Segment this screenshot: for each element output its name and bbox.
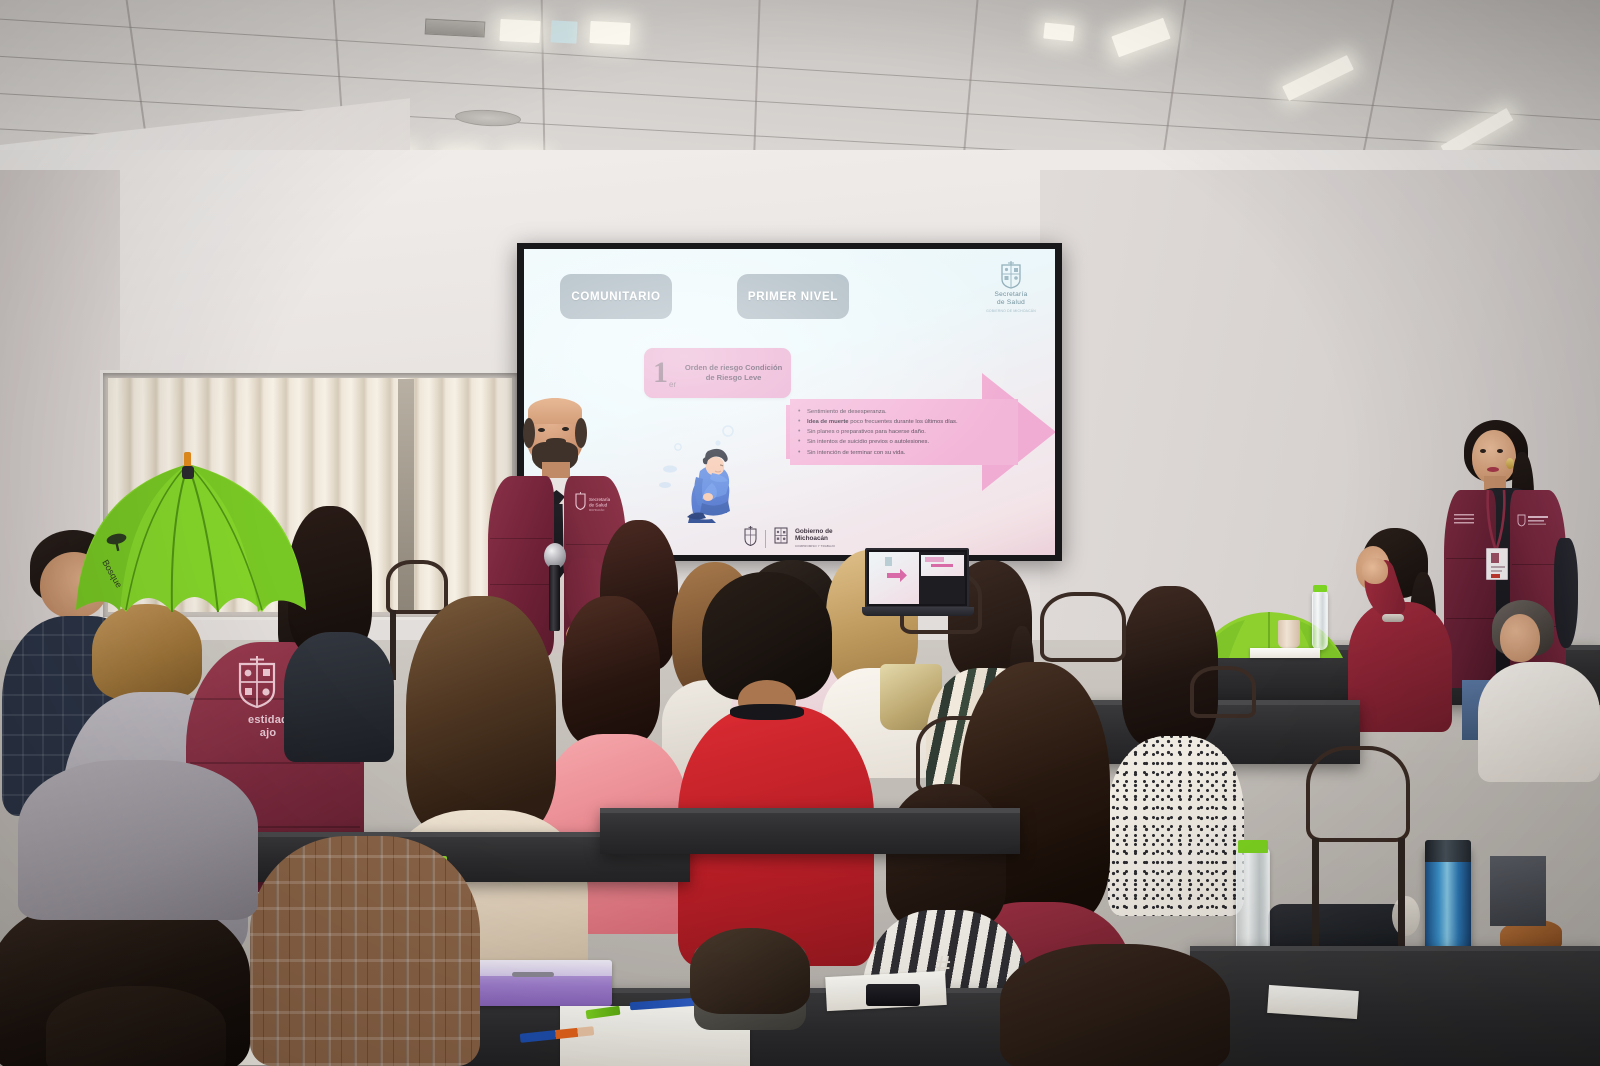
arm bbox=[1554, 538, 1578, 648]
air-vent-icon bbox=[425, 18, 486, 37]
bottle-cap bbox=[1313, 585, 1327, 592]
risk-number: 1 bbox=[653, 360, 668, 386]
table bbox=[600, 808, 1020, 854]
water-bottle-icon bbox=[1312, 590, 1328, 650]
hair bbox=[575, 418, 587, 448]
hair bbox=[690, 928, 810, 1014]
thermos-lid bbox=[1425, 840, 1471, 862]
list-item: Idea de muerte poco frecuentes durante l… bbox=[798, 417, 1012, 427]
scalp bbox=[528, 398, 582, 424]
secretaria-de-salud-logo: Secretaría de Salud GOBIERNO DE MICHOACÁ… bbox=[981, 261, 1041, 313]
logo-line-1: Secretaría bbox=[981, 291, 1041, 299]
hair bbox=[46, 986, 226, 1066]
seated-sad-person-illustration bbox=[656, 417, 752, 525]
list-item: Sentimiento de desesperanza. bbox=[798, 407, 1012, 417]
smartphone-icon[interactable] bbox=[866, 984, 920, 1006]
risk-level-pill: 1 er Orden de riesgo Condición de Riesgo… bbox=[644, 348, 791, 398]
plastic-bag bbox=[1392, 896, 1420, 936]
slide-chip-comunitario: COMUNITARIO bbox=[560, 274, 672, 319]
trouser-leg bbox=[1490, 856, 1546, 926]
ceiling-light bbox=[550, 20, 577, 43]
footer-line-3: COMPROMISO Y TRABAJO bbox=[795, 544, 835, 548]
slide-chip-primer-nivel: PRIMER NIVEL bbox=[737, 274, 849, 319]
open-umbrella-icon[interactable]: Bosque bbox=[72, 450, 310, 630]
risk-title: Orden de riesgo Condición de Riesgo Leve bbox=[682, 363, 791, 384]
secretaria-de-salud-badge-icon: Secretaría de Salud MICHOACÁN bbox=[574, 492, 610, 519]
hand bbox=[1362, 558, 1388, 584]
earring-icon bbox=[1506, 458, 1514, 469]
michoacan-coat-of-arms-icon bbox=[236, 656, 278, 713]
secretaria-de-salud-badge-icon bbox=[1516, 514, 1550, 527]
svg-text:MICHOACÁN: MICHOACÁN bbox=[589, 509, 604, 512]
vest-emblem bbox=[1454, 514, 1474, 524]
ceiling-light bbox=[499, 19, 540, 43]
footer-line-2: Michoacán bbox=[795, 536, 835, 543]
hair bbox=[523, 418, 535, 448]
presentation-room-photo: COMUNITARIO PRIMER NIVEL bbox=[0, 0, 1600, 1066]
ceiling-light bbox=[1282, 55, 1354, 101]
white-shirt bbox=[1478, 662, 1600, 782]
coat-of-arms-crest-icon bbox=[1000, 261, 1022, 289]
head bbox=[1500, 614, 1540, 662]
coat-of-arms-crest-icon bbox=[744, 526, 757, 551]
mustache bbox=[546, 438, 566, 446]
svg-text:Secretaría: Secretaría bbox=[589, 497, 610, 502]
id-badge-icon bbox=[1486, 548, 1508, 580]
eye bbox=[562, 427, 569, 431]
svg-text:de Salud: de Salud bbox=[589, 503, 608, 508]
ceiling-light bbox=[589, 21, 630, 45]
hair bbox=[886, 784, 1006, 930]
hair bbox=[1000, 944, 1230, 1066]
dark-jacket bbox=[284, 632, 394, 762]
michoacan-seal-icon bbox=[774, 526, 787, 551]
paper-cup-icon bbox=[1278, 620, 1300, 648]
divider bbox=[765, 530, 766, 548]
list-item: Sin planes o preparativos para hacerse d… bbox=[798, 427, 1012, 437]
patterned-top bbox=[1108, 736, 1244, 916]
grey-sweater bbox=[18, 760, 258, 920]
logo-subline: GOBIERNO DE MICHOACÁN bbox=[981, 309, 1041, 313]
lips bbox=[1487, 467, 1499, 472]
air-diffuser-icon bbox=[455, 108, 522, 127]
logo-line-2: de Salud bbox=[981, 299, 1041, 307]
plaid-coat bbox=[250, 836, 480, 1066]
chip-label: COMUNITARIO bbox=[571, 291, 660, 303]
wristwatch-icon bbox=[1382, 614, 1404, 622]
hair bbox=[562, 596, 660, 746]
hair bbox=[406, 596, 556, 836]
risk-ordinal: er bbox=[669, 380, 676, 389]
shirt-collar bbox=[730, 704, 804, 720]
chip-label: PRIMER NIVEL bbox=[748, 291, 838, 303]
ceiling-light bbox=[1111, 18, 1170, 57]
list-item: Sin intención de terminar con su vida. bbox=[798, 448, 1012, 458]
hair bbox=[1122, 586, 1218, 746]
notebook bbox=[1250, 648, 1320, 658]
slide-bullet-list: Sentimiento de desesperanza. Idea de mue… bbox=[798, 407, 1012, 458]
eye bbox=[1480, 449, 1486, 453]
lanyard bbox=[1484, 490, 1508, 550]
eye bbox=[538, 428, 545, 432]
list-item: Sin intentos de suicidio previos o autol… bbox=[798, 437, 1012, 447]
gobierno-michoacan-wordmark: Gobierno de Michoacán COMPROMISO Y TRABA… bbox=[795, 529, 835, 547]
ceiling-light bbox=[1043, 22, 1075, 41]
pencil-case-icon[interactable] bbox=[466, 960, 612, 1006]
table bbox=[1190, 946, 1600, 1066]
eye bbox=[1497, 449, 1503, 453]
handheld-microphone-icon bbox=[542, 543, 568, 635]
laptop-icon[interactable] bbox=[862, 548, 974, 622]
bottle-cap bbox=[1238, 840, 1268, 853]
